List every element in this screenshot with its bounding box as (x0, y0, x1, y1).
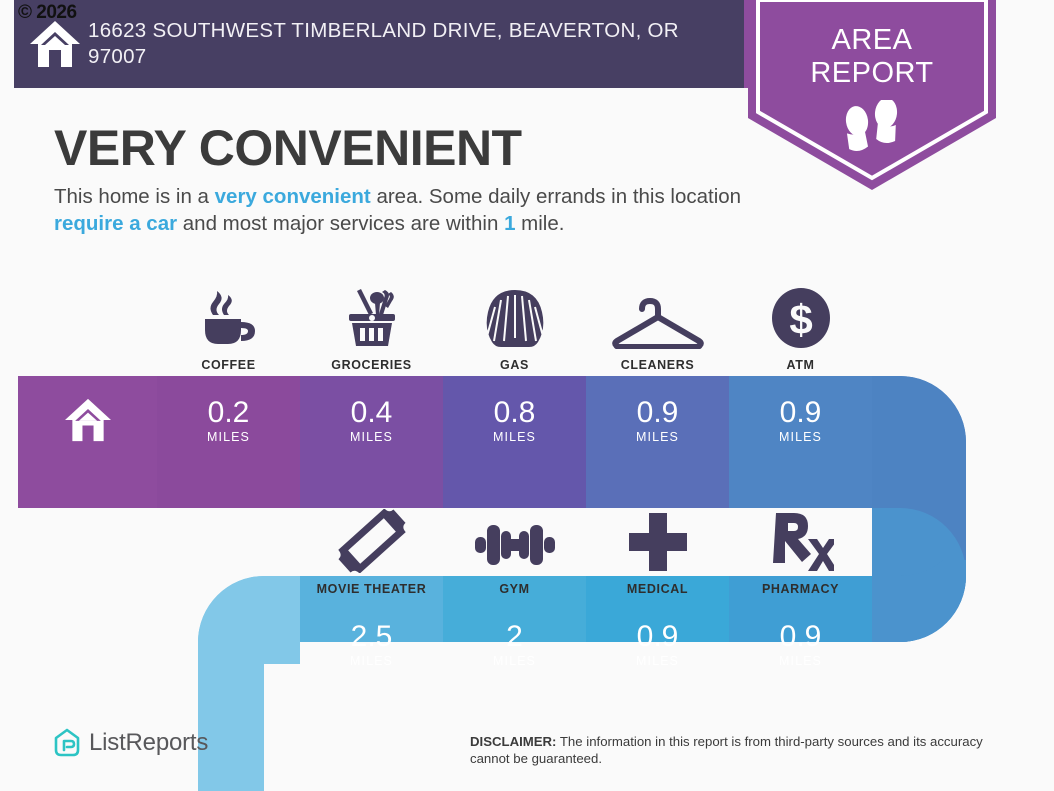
home-icon (14, 19, 88, 69)
amenity-atm: $ ATM (729, 272, 872, 372)
svg-text:$: $ (789, 296, 812, 343)
amenity-label: GAS (500, 358, 529, 372)
summary-part-2: area. Some daily errands in this locatio… (371, 185, 741, 208)
home-icon (64, 397, 112, 443)
amenity-gym: GYM (443, 496, 586, 596)
amenity-label: ATM (787, 358, 815, 372)
distance-value: 0.9 (780, 397, 822, 428)
distance-coffee: 0.2 MILES (157, 376, 300, 464)
amenity-label: MEDICAL (627, 582, 688, 596)
amenity-groceries: GROCERIES (300, 272, 443, 372)
dumbbell-icon (469, 511, 561, 573)
distance-atm: 0.9 MILES (729, 376, 872, 464)
distance-unit: MILES (779, 654, 822, 668)
dollar-circle-icon: $ (770, 287, 832, 349)
disclaimer: DISCLAIMER: The information in this repo… (470, 733, 1015, 767)
amenity-pharmacy: PHARMACY (729, 496, 872, 596)
amenity-label: PHARMACY (762, 582, 839, 596)
summary-part-3: and most major services are within (177, 212, 504, 235)
distance-medical: 0.9 MILES (586, 600, 729, 688)
amenity-gas: GAS (443, 272, 586, 372)
distance-value: 0.8 (494, 397, 536, 428)
area-report-page: 16623 SOUTHWEST TIMBERLAND DRIVE, BEAVER… (0, 0, 1054, 791)
distance-unit: MILES (350, 654, 393, 668)
distance-gas: 0.8 MILES (443, 376, 586, 464)
distance-unit: MILES (350, 430, 393, 444)
distance-unit: MILES (493, 654, 536, 668)
distance-value: 0.2 (208, 397, 250, 428)
distance-unit: MILES (207, 430, 250, 444)
page-title: VERY CONVENIENT (54, 119, 522, 177)
distance-unit: MILES (636, 654, 679, 668)
distance-unit: MILES (779, 430, 822, 444)
amenity-icon-row-1: COFFEE (157, 272, 857, 372)
badge-title-line2: REPORT (748, 57, 996, 90)
amenity-label: CLEANERS (621, 358, 695, 372)
summary-highlight-3: 1 (504, 212, 515, 235)
disclaimer-label: DISCLAIMER: (470, 734, 556, 749)
distance-value: 0.4 (351, 397, 393, 428)
summary-part-1: This home is in a (54, 185, 215, 208)
amenity-label: GYM (499, 582, 529, 596)
ribbon-left-tail (198, 576, 300, 791)
medical-cross-icon (627, 511, 689, 573)
area-report-badge: AREA REPORT (748, 0, 996, 190)
distance-value: 2 (506, 621, 523, 652)
property-address: 16623 SOUTHWEST TIMBERLAND DRIVE, BEAVER… (88, 18, 708, 70)
amenity-medical: MEDICAL (586, 496, 729, 596)
header-bar: 16623 SOUTHWEST TIMBERLAND DRIVE, BEAVER… (14, 0, 744, 88)
distance-unit: MILES (493, 430, 536, 444)
amenity-label: MOVIE THEATER (317, 582, 427, 596)
gas-shell-icon (481, 287, 549, 349)
summary-text: This home is in a very convenient area. … (54, 183, 744, 237)
footprints-icon (748, 100, 996, 162)
summary-highlight-2: require a car (54, 212, 177, 235)
clothes-hanger-icon (608, 287, 708, 349)
prescription-rx-icon (768, 511, 834, 573)
amenity-cleaners: CLEANERS (586, 272, 729, 372)
distance-pharmacy: 0.9 MILES (729, 600, 872, 688)
grocery-basket-icon (335, 287, 409, 349)
distance-row-1: 0.2 MILES 0.4 MILES 0.8 MILES 0.9 MILES … (157, 376, 872, 464)
distance-row-2: 2.5 MILES 2 MILES 0.9 MILES 0.9 MILES (300, 600, 872, 688)
amenity-coffee: COFFEE (157, 272, 300, 372)
listreports-house-pin-icon (54, 728, 80, 758)
amenity-label: COFFEE (201, 358, 255, 372)
copyright-watermark: © 2026 (18, 2, 77, 24)
distance-value: 0.9 (637, 621, 679, 652)
amenity-movie-theater: MOVIE THEATER (300, 496, 443, 596)
distance-movie-theater: 2.5 MILES (300, 600, 443, 688)
badge-title: AREA REPORT (748, 24, 996, 90)
summary-part-4: mile. (515, 212, 564, 235)
movie-ticket-icon (335, 511, 409, 573)
distance-value: 0.9 (637, 397, 679, 428)
distance-gym: 2 MILES (443, 600, 586, 688)
summary-highlight-1: very convenient (215, 185, 371, 208)
distance-value: 0.9 (780, 621, 822, 652)
home-marker-cell (18, 376, 157, 464)
distance-groceries: 0.4 MILES (300, 376, 443, 464)
listreports-logo[interactable]: ListReports (54, 728, 208, 758)
amenity-label: GROCERIES (331, 358, 411, 372)
listreports-logo-text: ListReports (89, 729, 208, 757)
distance-unit: MILES (636, 430, 679, 444)
coffee-cup-icon (193, 287, 265, 349)
distance-cleaners: 0.9 MILES (586, 376, 729, 464)
amenity-icon-row-2: MOVIE THEATER GYM (300, 496, 857, 596)
distance-value: 2.5 (351, 621, 393, 652)
badge-title-line1: AREA (748, 24, 996, 57)
